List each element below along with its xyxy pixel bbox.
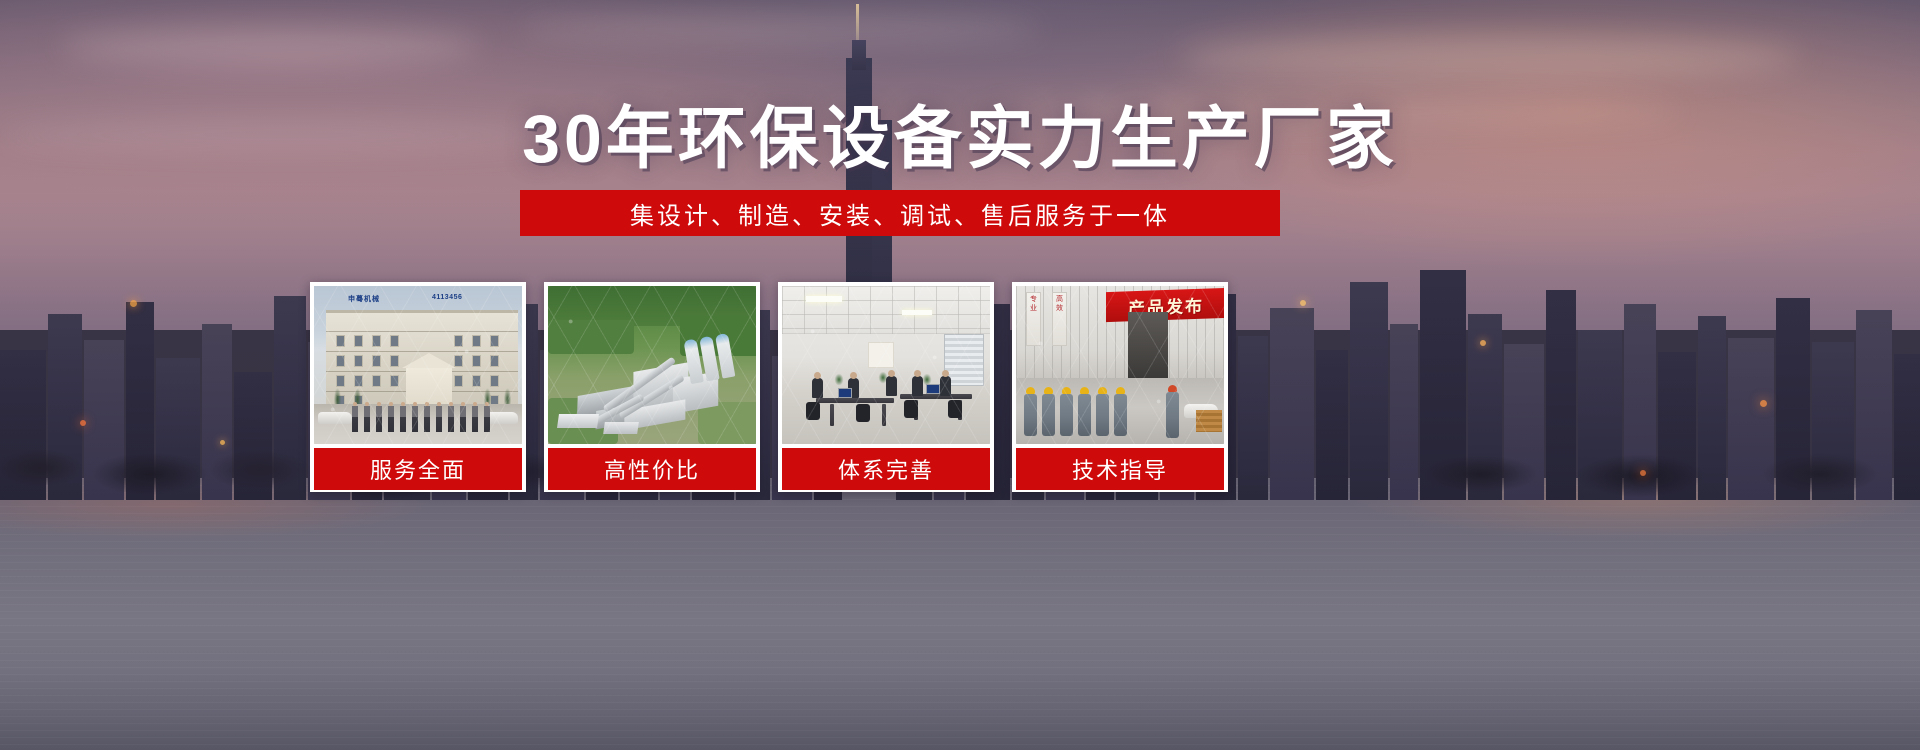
factory-vertical-banner-left: 专业: [1026, 292, 1041, 346]
banner-subtitle-text: 集设计、制造、安装、调试、售后服务于一体: [630, 196, 1170, 231]
banner-subtitle-bar: 集设计、制造、安装、调试、售后服务于一体: [520, 190, 1280, 236]
hero-banner: 30年环保设备实力生产厂家 集设计、制造、安装、调试、售后服务于一体: [0, 0, 1920, 750]
banner-content: 30年环保设备实力生产厂家 集设计、制造、安装、调试、售后服务于一体: [0, 0, 1920, 750]
feature-card[interactable]: 申蓦机械 4113456: [310, 282, 526, 492]
feature-card-caption: 服务全面: [314, 448, 522, 490]
feature-card[interactable]: ●● 高性价比: [544, 282, 760, 492]
office-workspace-photo: ●●: [782, 286, 990, 444]
feature-card-list: 申蓦机械 4113456: [310, 282, 1570, 492]
factory-workers-training-photo: 专业 高效 产品发布 ●●: [1016, 286, 1224, 444]
feature-card[interactable]: 专业 高效 产品发布 ●●: [1012, 282, 1228, 492]
feature-card-caption: 高性价比: [548, 448, 756, 490]
company-headquarters-building-photo: 申蓦机械 4113456: [314, 286, 522, 444]
feature-card-caption: 体系完善: [782, 448, 990, 490]
feature-card-caption: 技术指导: [1016, 448, 1224, 490]
factory-vertical-banner-right: 高效: [1052, 292, 1067, 346]
building-sign-phone-number: 4113456: [432, 294, 462, 301]
building-sign-company-name: 申蓦机械: [348, 294, 498, 304]
aerial-factory-plant-photo: ●●: [548, 286, 756, 444]
feature-card[interactable]: ●● 体系完善: [778, 282, 994, 492]
banner-headline: 30年环保设备实力生产厂家: [0, 101, 1920, 177]
